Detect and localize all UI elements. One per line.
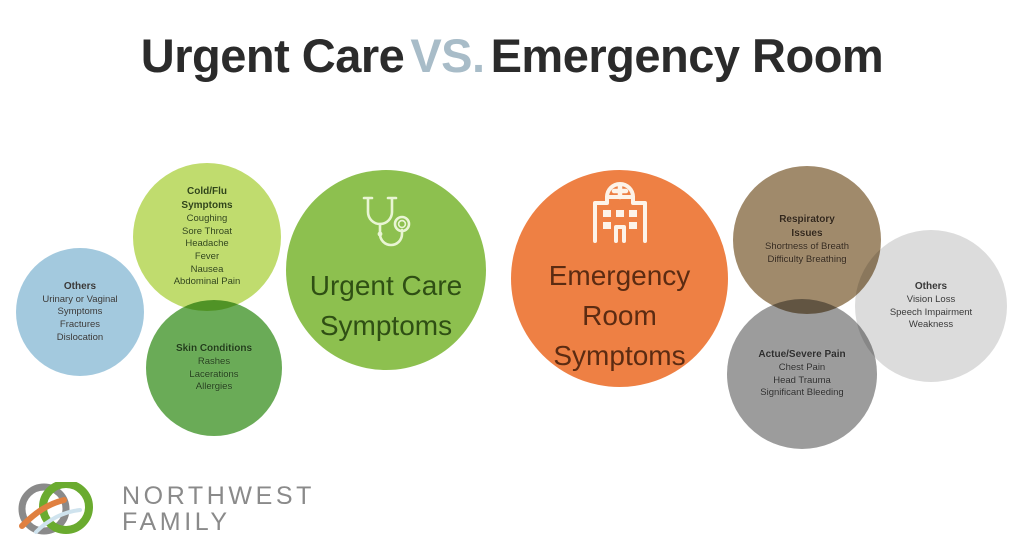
group-item: Abdominal Pain: [174, 276, 241, 289]
group-heading: Issues: [765, 227, 849, 240]
title-left: Urgent Care: [141, 29, 405, 82]
brand-name-line-1: NORTHWEST: [122, 483, 315, 509]
infographic-canvas: Urgent CareVS.Emergency Room Others Urin…: [0, 0, 1024, 536]
group-respiratory-issues: Respiratory Issues Shortness of Breath D…: [733, 166, 881, 314]
group-item: Rashes: [176, 356, 252, 369]
emergency-room-hub-label: Emergency Room Symptoms: [549, 256, 691, 375]
group-others-emergency-room-text: Others Vision Loss Speech Impairment Wea…: [890, 280, 972, 332]
group-others-urgent-care-text: Others Urinary or Vaginal Symptoms Fract…: [42, 280, 117, 344]
group-others-urgent-care: Others Urinary or Vaginal Symptoms Fract…: [16, 248, 144, 376]
group-heading: Cold/Flu: [174, 185, 241, 198]
group-item: Chest Pain: [758, 362, 845, 375]
group-cold-flu-symptoms: Cold/Flu Symptoms Coughing Sore Throat H…: [133, 163, 281, 311]
group-skin-conditions: Skin Conditions Rashes Lacerations Aller…: [146, 300, 282, 436]
title-vs: VS.: [404, 29, 490, 82]
group-item: Sore Throat: [174, 226, 241, 239]
hospital-icon: [583, 181, 657, 250]
group-heading: Respiratory: [765, 213, 849, 226]
group-cold-flu-symptoms-text: Cold/Flu Symptoms Coughing Sore Throat H…: [174, 185, 241, 288]
brand-logo: NORTHWEST FAMILY: [14, 482, 315, 536]
group-item: Shortness of Breath: [765, 241, 849, 254]
brand-logo-text: NORTHWEST FAMILY: [122, 483, 315, 536]
group-item: Lacerations: [176, 369, 252, 382]
page-title: Urgent CareVS.Emergency Room: [0, 28, 1024, 83]
group-heading: Symptoms: [174, 199, 241, 212]
group-item: Head Trauma: [758, 375, 845, 388]
group-item: Urinary or Vaginal: [42, 294, 117, 307]
hub-line-1: Emergency: [549, 256, 691, 296]
emergency-room-hub: Emergency Room Symptoms: [511, 170, 728, 387]
title-right: Emergency Room: [491, 29, 884, 82]
stethoscope-icon: [355, 195, 417, 260]
hub-line-2: Room: [549, 296, 691, 336]
group-item: Difficulty Breathing: [765, 254, 849, 267]
urgent-care-hub-label: Urgent Care Symptoms: [310, 266, 463, 346]
hub-line-2: Symptoms: [310, 306, 463, 346]
group-item: Speech Impairment: [890, 307, 972, 320]
urgent-care-hub: Urgent Care Symptoms: [286, 170, 486, 370]
group-heading: Others: [42, 280, 117, 293]
group-item: Symptoms: [42, 306, 117, 319]
group-item: Fractures: [42, 319, 117, 332]
group-item: Allergies: [176, 381, 252, 394]
group-acute-severe-pain-text: Actue/Severe Pain Chest Pain Head Trauma…: [758, 348, 845, 400]
group-acute-severe-pain: Actue/Severe Pain Chest Pain Head Trauma…: [727, 299, 877, 449]
group-item: Fever: [174, 251, 241, 264]
group-item: Significant Bleeding: [758, 387, 845, 400]
group-item: Nausea: [174, 264, 241, 277]
northwest-family-rings-icon: [14, 482, 106, 536]
group-heading: Others: [890, 280, 972, 293]
group-item: Weakness: [890, 319, 972, 332]
group-skin-conditions-text: Skin Conditions Rashes Lacerations Aller…: [176, 342, 252, 394]
group-item: Vision Loss: [890, 294, 972, 307]
hub-line-1: Urgent Care: [310, 266, 463, 306]
group-heading: Skin Conditions: [176, 342, 252, 355]
hub-line-3: Symptoms: [549, 336, 691, 376]
group-item: Dislocation: [42, 332, 117, 345]
brand-name-line-2: FAMILY: [122, 509, 315, 535]
group-item: Coughing: [174, 213, 241, 226]
group-respiratory-issues-text: Respiratory Issues Shortness of Breath D…: [765, 213, 849, 266]
group-heading: Actue/Severe Pain: [758, 348, 845, 361]
group-item: Headache: [174, 238, 241, 251]
